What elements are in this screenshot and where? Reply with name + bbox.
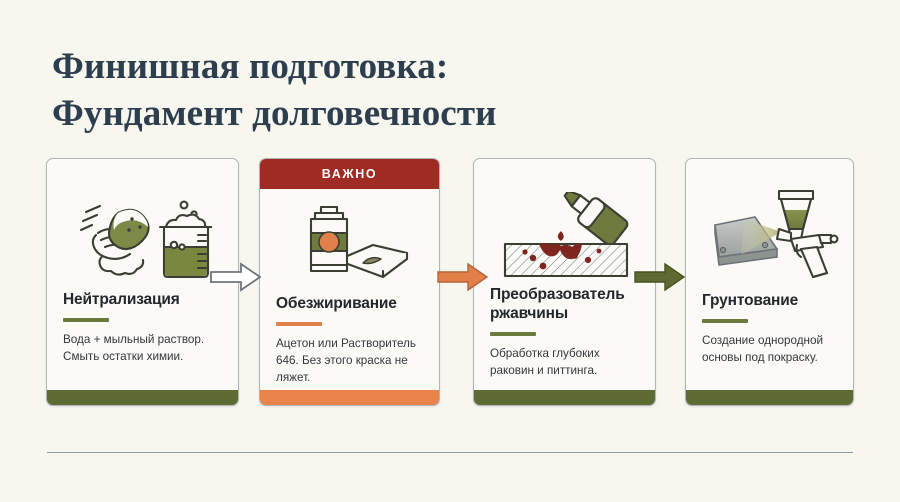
card-body-degreasing: Обезжиривание Ацетон или Растворитель 64… xyxy=(276,294,426,387)
card-body-neutralization: Нейтрализация Вода + мыльный раствор. См… xyxy=(63,290,225,365)
bottle-drip-rusty-plate-icon xyxy=(474,191,655,283)
card-footer-bar xyxy=(260,390,439,405)
card-title-rust-converter: Преобразователь ржавчины xyxy=(490,285,642,323)
card-description-neutralization: Вода + мыльный раствор. Смыть остатки хи… xyxy=(63,331,225,366)
card-title-neutralization: Нейтрализация xyxy=(63,290,225,309)
accent-bar xyxy=(702,319,748,323)
arrow-step-1-to-2 xyxy=(210,262,262,292)
footer-divider xyxy=(47,452,853,453)
card-title-line-1: Преобразователь xyxy=(490,286,625,303)
card-title-priming: Грунтование xyxy=(702,291,840,310)
card-title-degreasing: Обезжиривание xyxy=(276,294,426,313)
accent-bar xyxy=(276,322,322,326)
page-title-line-1: Финишная подготовка: xyxy=(52,44,812,91)
solvent-can-rag-icon xyxy=(260,197,439,289)
card-description-degreasing: Ацетон или Растворитель 646. Без этого к… xyxy=(276,335,426,387)
status-badge-important: ВАЖНО xyxy=(260,159,439,189)
slide-canvas: Финишная подготовка: Фундамент долговечн… xyxy=(0,0,900,502)
arrow-step-3-to-4 xyxy=(634,262,686,292)
card-description-rust-converter: Обработка глубоких раковин и питтинга. xyxy=(490,345,642,380)
card-footer-bar xyxy=(474,390,655,405)
card-body-priming: Грунтование Создание однородной основы п… xyxy=(702,291,840,366)
card-degreasing[interactable]: ВАЖНО xyxy=(259,158,440,406)
card-footer-bar xyxy=(686,390,853,405)
accent-bar xyxy=(63,318,109,322)
card-rust-converter[interactable]: Преобразователь ржавчины Обработка глубо… xyxy=(473,158,656,406)
spray-gun-plate-icon xyxy=(686,187,853,279)
arrow-step-2-to-3 xyxy=(437,262,489,292)
card-priming[interactable]: Грунтование Создание однородной основы п… xyxy=(685,158,854,406)
card-footer-bar xyxy=(47,390,238,405)
card-title-line-2: ржавчины xyxy=(490,305,568,322)
page-title: Финишная подготовка: Фундамент долговечн… xyxy=(52,44,812,138)
card-description-priming: Создание однородной основы под покраску. xyxy=(702,332,840,367)
card-body-rust-converter: Преобразователь ржавчины Обработка глубо… xyxy=(490,285,642,380)
page-title-line-2: Фундамент долговечности xyxy=(52,91,812,138)
accent-bar xyxy=(490,332,536,336)
